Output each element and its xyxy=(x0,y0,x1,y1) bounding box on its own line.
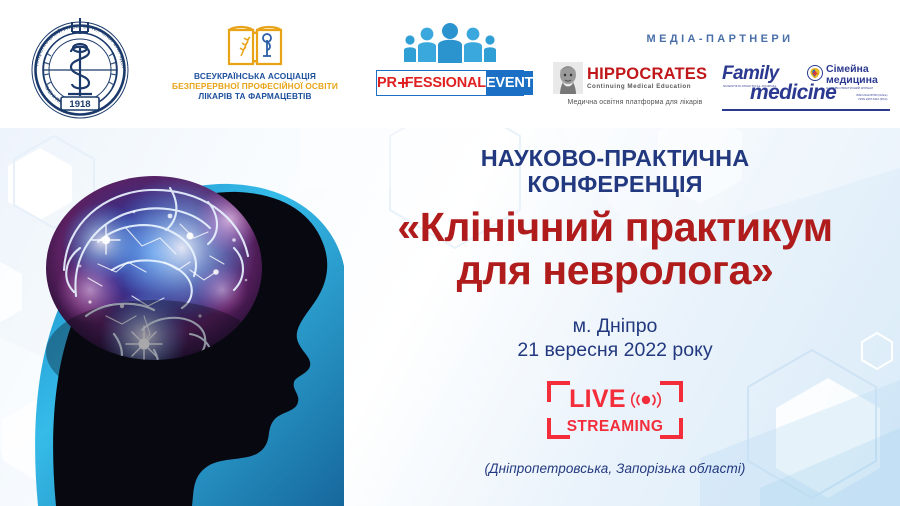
university-logo: НАЦІОНАЛЬНИЙ УНІВЕРСИТЕТ ОХОРОНИ ЗДОРОВ'… xyxy=(24,12,136,124)
event-city: м. Дніпро xyxy=(330,314,900,338)
kicker-line-2: КОНФЕРЕНЦІЯ xyxy=(330,171,900,197)
svg-text:1918: 1918 xyxy=(69,99,90,110)
live-streaming-badge: LIVE STREAMING xyxy=(547,381,683,439)
family-medicine-logo: Family SCIENTIFIC-PRACTICAL JOURNAL medi… xyxy=(722,64,890,116)
family-medicine-badge-icon xyxy=(807,65,823,81)
event-date: 21 вересня 2022 року xyxy=(330,338,900,362)
live-row: LIVE xyxy=(547,386,683,413)
people-group-icon xyxy=(400,22,500,64)
professional-event-logo: PR FESSIONAL EVENT xyxy=(370,22,530,118)
issn-line-2: ISSN 2307-5112 (Print) xyxy=(859,97,888,101)
family-medicine-micro-right: НАУКОВО-ПРАКТИЧНИЙ ЖУРНАЛ xyxy=(826,86,873,90)
family-medicine-ua-line2: медицина xyxy=(826,74,878,86)
title-line-1: «Клінічний практикум xyxy=(330,206,900,249)
media-partners-title: МЕДІА-ПАРТНЕРИ xyxy=(540,33,900,45)
logo-header-bar: НАЦІОНАЛЬНИЙ УНІВЕРСИТЕТ ОХОРОНИ ЗДОРОВ'… xyxy=(0,0,900,128)
hippocrates-name: HIPPOCRATES xyxy=(587,66,707,83)
hippocrates-bust-icon xyxy=(553,62,583,94)
pe-prefix: PR xyxy=(377,75,397,91)
streaming-label: STREAMING xyxy=(547,419,683,435)
head-silhouette-with-glowing-brain-artwork xyxy=(0,120,344,506)
association-line-3: ЛІКАРІВ ТА ФАРМАЦЕВТІВ xyxy=(160,92,350,102)
red-cross-icon xyxy=(398,78,408,88)
hippocrates-logo: HIPPOCRATES Continuing Medical Education… xyxy=(553,62,717,114)
association-logo: ВСЕУКРАЇНСЬКА АСОЦІАЦІЯ БЕЗПЕРЕРВНОЇ ПРО… xyxy=(160,22,350,118)
conference-kicker: НАУКОВО-ПРАКТИЧНА КОНФЕРЕНЦІЯ xyxy=(330,145,900,198)
pe-suffix: FESSIONAL xyxy=(405,75,486,91)
kicker-line-1: НАУКОВО-ПРАКТИЧНА xyxy=(330,145,900,171)
conference-title: «Клінічний практикум для невролога» xyxy=(330,206,900,292)
professional-event-word-professional: PR FESSIONAL xyxy=(377,71,486,95)
professional-event-word-event: EVENT xyxy=(486,71,533,95)
conference-banner: НАЦІОНАЛЬНИЙ УНІВЕРСИТЕТ ОХОРОНИ ЗДОРОВ'… xyxy=(0,0,900,506)
title-line-2: для невролога» xyxy=(330,249,900,292)
hippocrates-tagline: Continuing Medical Education xyxy=(587,84,707,90)
live-label: LIVE xyxy=(569,387,626,412)
university-emblem-icon: НАЦІОНАЛЬНИЙ УНІВЕРСИТЕТ ОХОРОНИ ЗДОРОВ'… xyxy=(24,12,136,124)
conference-content: НАУКОВО-ПРАКТИЧНА КОНФЕРЕНЦІЯ «Клінічний… xyxy=(330,128,900,506)
regions-note: (Дніпропетровська, Запорізька області) xyxy=(330,461,900,476)
family-medicine-underline xyxy=(722,109,890,111)
hippocrates-subtitle: Медична освітня платформа для лікарів xyxy=(553,99,717,106)
family-medicine-ua-text: Сімейна медицина xyxy=(826,64,878,85)
live-broadcast-dot-icon xyxy=(631,392,661,408)
family-medicine-word-medicine: medicine xyxy=(750,82,836,103)
open-book-caduceus-icon xyxy=(225,22,285,68)
event-place-and-date: м. Дніпро 21 вересня 2022 року xyxy=(330,314,900,363)
family-medicine-issn: ISSN 2412-8708 (Online) ISSN 2307-5112 (… xyxy=(856,94,887,102)
